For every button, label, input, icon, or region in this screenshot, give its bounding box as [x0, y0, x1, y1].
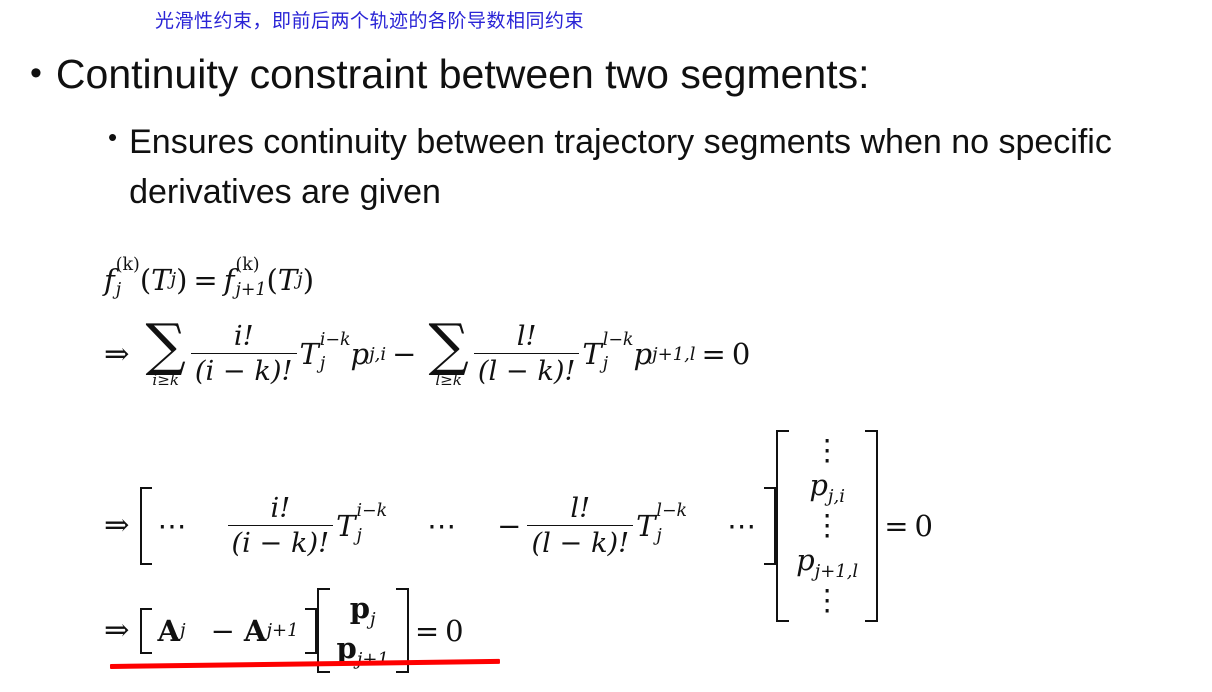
eq3-minus: − [497, 509, 521, 543]
eq3-zero: 0 [915, 509, 933, 543]
eq1-f-rhs: f [224, 263, 235, 297]
eq2-fraction-1: i! (i − k)! [191, 321, 297, 387]
eq4-vec-p2: p [337, 631, 357, 665]
eq3-frac1-denominator: (i − k)! [228, 525, 334, 559]
eq3-equals: = [884, 509, 908, 543]
eq3-column-vector: ⋮ pj,i ⋮ pj+1,l ⋮ [776, 430, 878, 622]
eq3-T1: T [336, 509, 355, 543]
eq3-vec-p1-sub: j,i [828, 486, 845, 507]
eq3-dots-left: ⋯ [158, 509, 189, 543]
chinese-annotation-text: 光滑性约束，即前后两个轨迹的各阶导数相同约束 [155, 9, 584, 33]
eq1-rhs-supsub: (k) j+1 [235, 261, 266, 297]
eq2-equals: = [702, 337, 726, 371]
eq2-T1-sub: j [320, 356, 351, 374]
eq2-fraction-2: l! (l − k)! [474, 321, 580, 387]
bracket-right-icon [865, 430, 878, 622]
eq3-T2: T [636, 509, 655, 543]
bracket-left-icon [776, 430, 789, 622]
eq3-T1-sub: j [356, 528, 387, 546]
eq3-T2-sub: j [656, 528, 687, 546]
eq2-frac2-denominator: (l − k)! [474, 353, 580, 387]
eq2-frac2-numerator: l! [511, 321, 543, 353]
eq4-vec-p2-sub: j+1 [357, 649, 389, 670]
eq3-T2-supsub: l−k j [656, 507, 687, 543]
eq3-vec-p2: p [796, 543, 815, 577]
eq2-sum2-limit: l≥k [435, 373, 462, 388]
eq3-vec-cell-p1: pj,i [809, 468, 845, 508]
eq3-dots-right: ⋯ [727, 509, 758, 543]
eq3-frac2-denominator: (l − k)! [527, 525, 633, 559]
eq3-row-matrix: ⋯ i! (i − k)! T i−k j ⋯ − l! (l − k)! [140, 487, 777, 565]
eq2-zero: 0 [732, 337, 750, 371]
eq2-T1: T [300, 337, 319, 371]
eq3-vec-cell-p2: pj+1,l [796, 543, 858, 583]
eq3-T1-sup: i−k [356, 503, 387, 521]
eq3-fraction-1: i! (i − k)! [228, 493, 334, 559]
eq1-lhs-paren-close: ) [176, 263, 187, 297]
sigma-icon: ∑ [428, 320, 468, 372]
eq4-A2-sub: j+1 [266, 620, 298, 641]
eq1-equals: = [193, 263, 217, 297]
equation-line-1: f (k) j ( T j ) = f (k) j+1 ( T j ) [104, 262, 314, 298]
eq1-lhs-supsub: (k) j [116, 261, 140, 297]
bracket-right-icon [764, 487, 776, 565]
eq1-lhs-T: T [151, 263, 170, 297]
sigma-icon: ∑ [146, 320, 186, 372]
eq2-frac1-numerator: i! [228, 321, 260, 353]
eq2-p2: p [633, 337, 652, 371]
bullet-dot-icon: • [108, 117, 117, 157]
eq4-minus: − [211, 614, 235, 648]
eq4-vec-p1-sub: j [370, 609, 376, 630]
eq2-p1-sub: j,i [369, 344, 386, 365]
eq1-lhs-paren-open: ( [140, 263, 151, 297]
eq3-frac2-numerator: l! [564, 493, 596, 525]
eq3-vec-vdots-mid: ⋮ [813, 508, 842, 543]
eq1-lhs-sub: j [116, 282, 140, 300]
eq2-T2: T [582, 337, 601, 371]
eq3-T2-sup: l−k [656, 503, 687, 521]
eq3-vec-p1: p [809, 468, 828, 502]
eq2-summation-1: ∑ i≥k [146, 320, 186, 388]
eq4-row-matrix: A j − A j+1 [140, 608, 317, 654]
eq1-rhs-paren-open: ( [267, 263, 278, 297]
eq4-implies-arrow: ⇒ [104, 613, 130, 648]
bracket-right-icon [305, 608, 317, 654]
eq2-minus: − [392, 337, 416, 371]
bullet-level2: • Ensures continuity between trajectory … [108, 117, 1198, 217]
eq3-implies-arrow: ⇒ [104, 508, 130, 543]
eq1-rhs-sub: j+1 [235, 282, 266, 300]
eq2-frac1-denominator: (i − k)! [191, 353, 297, 387]
bullet-level2-text: Ensures continuity between trajectory se… [129, 117, 1179, 217]
bullet-dot-icon: • [30, 50, 42, 96]
bracket-left-icon [140, 608, 152, 654]
eq2-summation-2: ∑ l≥k [428, 320, 468, 388]
eq3-fraction-2: l! (l − k)! [527, 493, 633, 559]
eq3-vec-p2-sub: j+1,l [815, 561, 859, 582]
bracket-left-icon [140, 487, 152, 565]
equation-line-2: ⇒ ∑ i≥k i! (i − k)! T i−k j p j,i − ∑ l≥… [104, 320, 750, 388]
eq4-A1-sub: j [180, 620, 186, 641]
eq2-T2-sub: j [603, 356, 634, 374]
eq4-zero: 0 [445, 614, 463, 648]
eq2-T1-supsub: i−k j [320, 335, 351, 371]
eq4-vec-cell-p1: pj [350, 591, 376, 631]
bullet-level1: • Continuity constraint between two segm… [30, 50, 870, 98]
eq2-T2-supsub: l−k j [603, 335, 634, 371]
eq2-sum1-limit: i≥k [152, 373, 179, 388]
bullet-level1-text: Continuity constraint between two segmen… [56, 50, 870, 98]
eq1-rhs-T: T [278, 263, 297, 297]
eq4-A2: A [244, 614, 267, 648]
eq1-rhs-paren-close: ) [303, 263, 314, 297]
eq3-frac1-numerator: i! [264, 493, 296, 525]
eq3-T1-supsub: i−k j [356, 507, 387, 543]
eq1-f-lhs: f [104, 263, 115, 297]
eq1-lhs-sup: (k) [116, 257, 140, 275]
eq2-T1-sup: i−k [320, 332, 351, 350]
eq4-vec-p1: p [350, 591, 370, 625]
eq2-p1: p [351, 337, 370, 371]
eq3-vec-vdots-top: ⋮ [813, 433, 842, 468]
eq2-T2-sup: l−k [603, 332, 634, 350]
eq2-implies-arrow: ⇒ [104, 337, 130, 372]
eq3-vec-vdots-bottom: ⋮ [813, 583, 842, 618]
eq1-rhs-sup: (k) [235, 257, 266, 275]
eq4-A1: A [158, 614, 181, 648]
eq3-dots-mid: ⋯ [427, 509, 458, 543]
eq2-p2-sub: j+1,l [652, 344, 696, 365]
eq4-equals: = [415, 614, 439, 648]
